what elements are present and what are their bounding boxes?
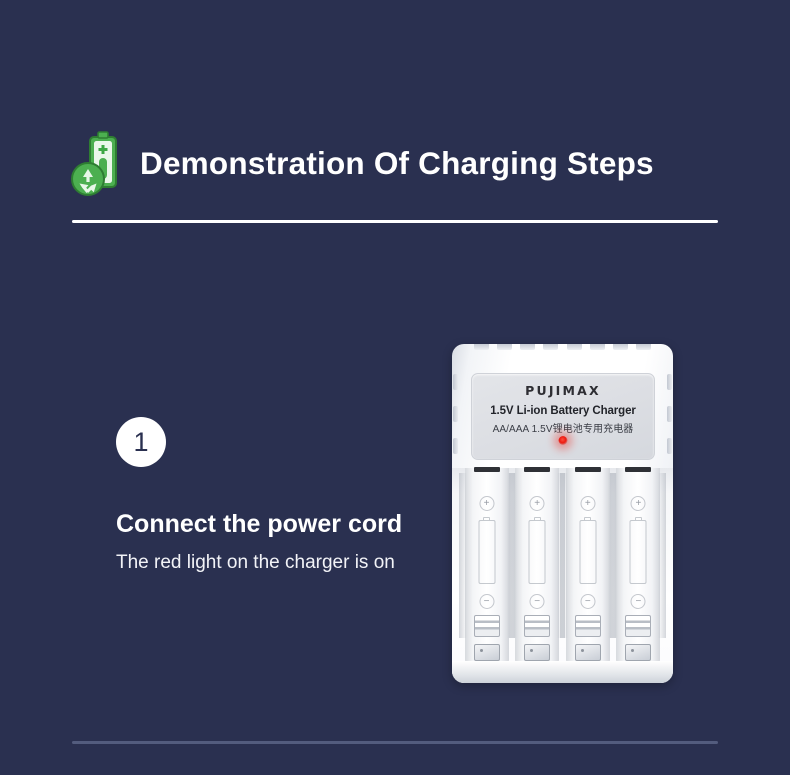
header: Demonstration Of Charging Steps <box>70 128 720 200</box>
step-subtext: The red light on the charger is on <box>116 553 456 572</box>
slot-shadow <box>509 473 517 638</box>
side-notch <box>453 374 458 390</box>
charger-model-line: 1.5V Li-ion Battery Charger <box>472 405 654 417</box>
charger-model-line-cn: AA/AAA 1.5V锂电池专用充电器 <box>472 420 654 435</box>
footer-divider <box>72 741 718 744</box>
polarity-minus-icon: − <box>580 594 595 609</box>
vent-notch <box>520 344 535 350</box>
polarity-plus-icon: + <box>530 496 545 511</box>
battery-charger-image: PUJIMAX 1.5V Li-ion Battery Charger AA/A… <box>452 344 673 683</box>
vent-notch <box>613 344 628 350</box>
vent-notch <box>636 344 651 350</box>
brand-name: PUJIMAX <box>472 383 654 398</box>
battery-recycle-icon <box>70 131 126 197</box>
slot-shadow <box>560 473 568 638</box>
charger-body: PUJIMAX 1.5V Li-ion Battery Charger AA/A… <box>452 344 673 683</box>
step-heading: Connect the power cord <box>116 512 456 537</box>
spring-contact <box>524 615 550 637</box>
vent-notch <box>497 344 512 350</box>
battery-slots: + − + − <box>452 468 673 683</box>
page-title: Demonstration Of Charging Steps <box>140 148 654 180</box>
battery-slot: + − <box>465 468 509 664</box>
polarity-plus-icon: + <box>631 496 646 511</box>
side-notch <box>667 406 672 422</box>
side-notch <box>667 374 672 390</box>
battery-outline-icon <box>630 520 647 584</box>
slot-top-contact <box>474 467 500 472</box>
battery-slot: + − <box>616 468 660 664</box>
slot-shadow <box>459 473 467 638</box>
bottom-terminal <box>575 644 601 661</box>
bottom-terminal <box>625 644 651 661</box>
polarity-minus-icon: − <box>631 594 646 609</box>
side-notch <box>453 406 458 422</box>
charger-base <box>452 661 673 683</box>
battery-outline-icon <box>529 520 546 584</box>
slot-top-contact <box>524 467 550 472</box>
vent-notch <box>543 344 558 350</box>
slot-shadow <box>658 473 666 638</box>
battery-outline-icon <box>478 520 495 584</box>
step-number-badge: 1 <box>116 417 166 467</box>
slot-top-contact <box>575 467 601 472</box>
charger-label-panel: PUJIMAX 1.5V Li-ion Battery Charger AA/A… <box>471 373 655 460</box>
slot-shadow <box>610 473 618 638</box>
battery-outline-icon <box>579 520 596 584</box>
polarity-plus-icon: + <box>580 496 595 511</box>
vent-notch <box>474 344 489 350</box>
polarity-minus-icon: − <box>479 594 494 609</box>
step-block: 1 Connect the power cord The red light o… <box>116 417 456 572</box>
vent-notch <box>567 344 582 350</box>
bottom-terminal <box>524 644 550 661</box>
charger-top-vents <box>452 344 673 353</box>
battery-slot: + − <box>515 468 559 664</box>
vent-notch <box>590 344 605 350</box>
side-notch <box>667 438 672 454</box>
promo-page: Demonstration Of Charging Steps 1 Connec… <box>0 0 790 775</box>
side-notch <box>453 438 458 454</box>
charging-led-indicator <box>559 436 568 445</box>
polarity-plus-icon: + <box>479 496 494 511</box>
slot-top-contact <box>625 467 651 472</box>
spring-contact <box>474 615 500 637</box>
bottom-terminal <box>474 644 500 661</box>
battery-slot: + − <box>566 468 610 664</box>
spring-contact <box>625 615 651 637</box>
header-divider <box>72 220 718 223</box>
polarity-minus-icon: − <box>530 594 545 609</box>
spring-contact <box>575 615 601 637</box>
